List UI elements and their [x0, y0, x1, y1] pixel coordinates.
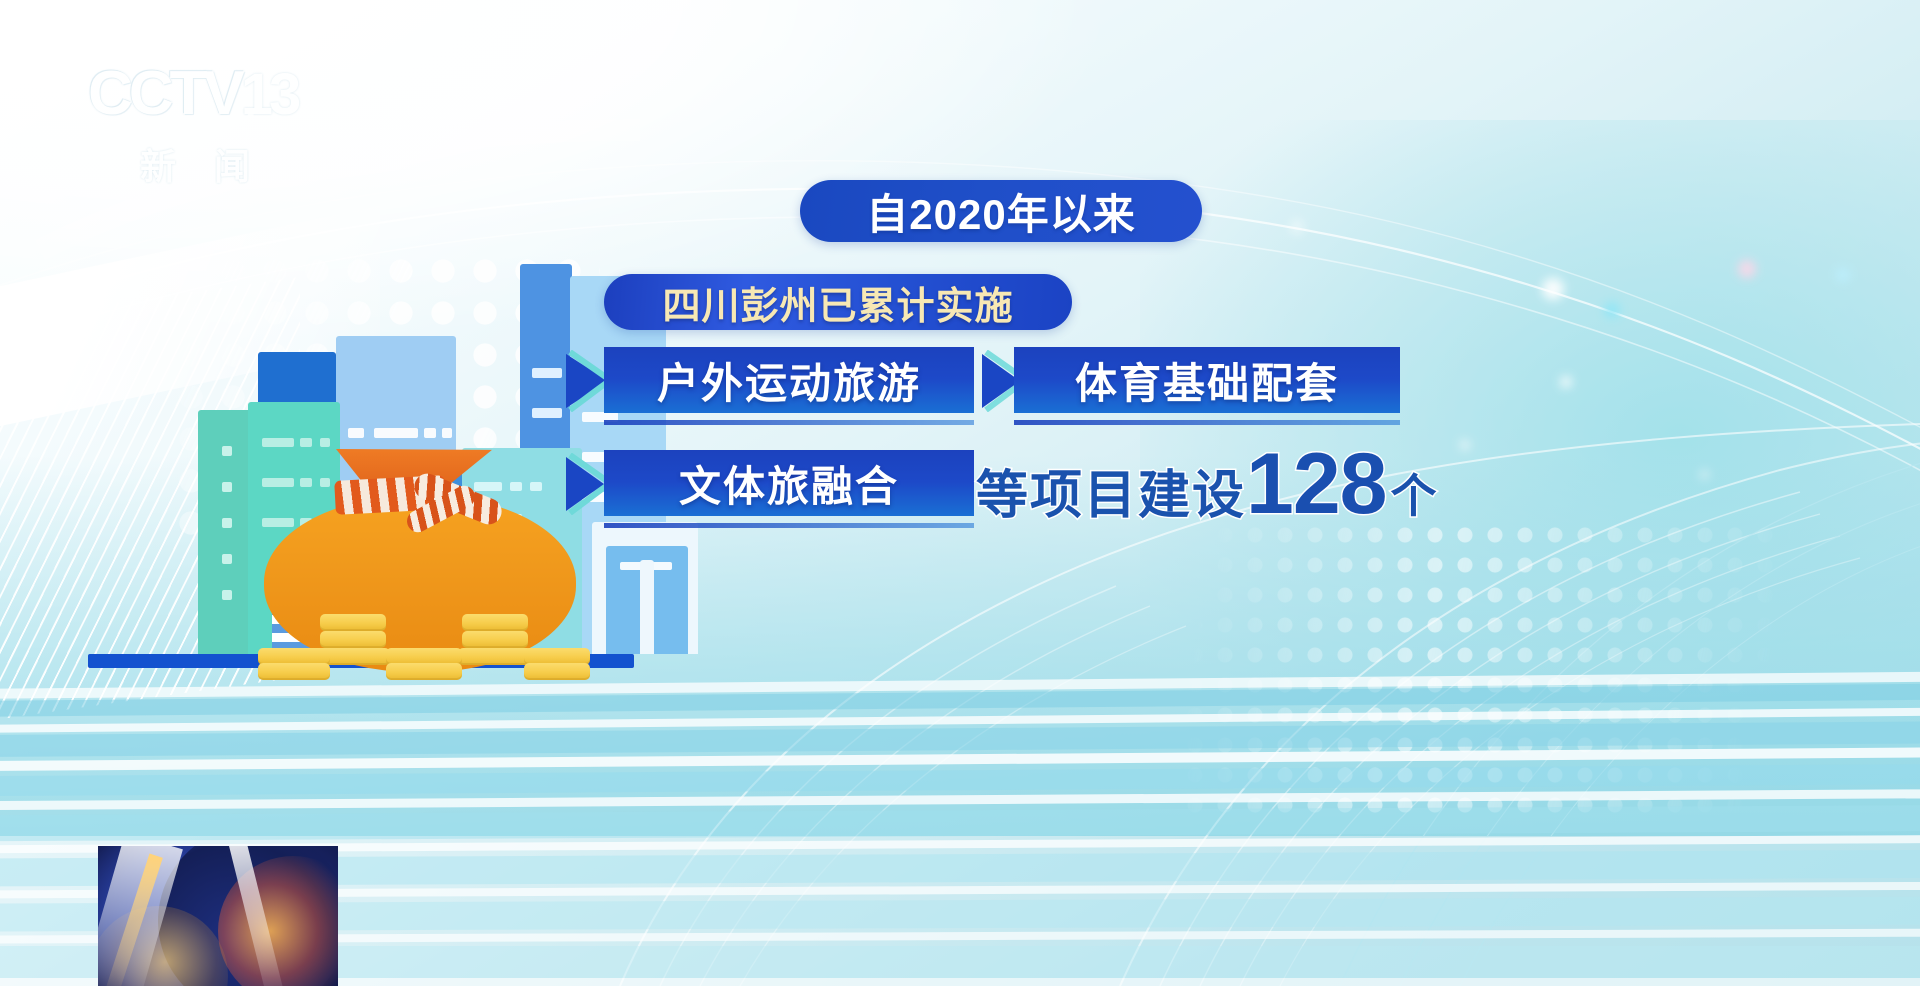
- summary-unit: 个: [1391, 471, 1437, 522]
- bokeh-dot: [1604, 302, 1620, 318]
- headline-pill[interactable]: 自2020年以来: [800, 180, 1202, 242]
- bokeh-dot: [1738, 260, 1756, 278]
- building: [640, 560, 654, 654]
- logo-letters: CCTV: [88, 59, 241, 128]
- summary-text: 等项目建设 128 个: [976, 448, 1437, 522]
- category-banner-label: 体育基础配套: [1075, 350, 1339, 411]
- subject-pill[interactable]: 四川彭州已累计实施: [604, 274, 1072, 330]
- category-banner-label: 文体旅融合: [679, 453, 899, 514]
- bokeh-dot: [1290, 220, 1304, 234]
- summary-count: 128: [1246, 448, 1387, 522]
- program-bumper-thumbnail[interactable]: [98, 846, 338, 986]
- headline-pill-label: 自2020年以来: [800, 181, 1202, 242]
- logo-subtitle: 新 闻: [140, 138, 264, 190]
- category-banner-culture-sports-tourism-integration[interactable]: 文体旅融合: [604, 450, 974, 516]
- cctv13-news-watermark: CCTV13 新 闻: [88, 58, 348, 173]
- category-banner-label: 户外运动旅游: [657, 350, 921, 411]
- bokeh-dot: [1560, 376, 1572, 388]
- category-banner-underbar: [1014, 420, 1400, 425]
- category-banner-underbar: [604, 523, 974, 528]
- logo-underline: [98, 132, 328, 136]
- bokeh-dot: [1460, 440, 1470, 450]
- subject-pill-label: 四川彭州已累计实施: [604, 275, 1072, 330]
- bokeh-dot: [1542, 278, 1564, 300]
- category-banner-outdoor-sports-tourism[interactable]: 户外运动旅游: [604, 347, 974, 413]
- broadcast-frame: CCTV13 新 闻: [0, 0, 1920, 986]
- bokeh-dot: [1700, 470, 1709, 479]
- bokeh-dot: [1836, 268, 1850, 282]
- summary-prefix: 等项目建设: [976, 470, 1246, 522]
- category-banner-sports-infrastructure[interactable]: 体育基础配套: [1014, 347, 1400, 413]
- category-banner-underbar: [604, 420, 974, 425]
